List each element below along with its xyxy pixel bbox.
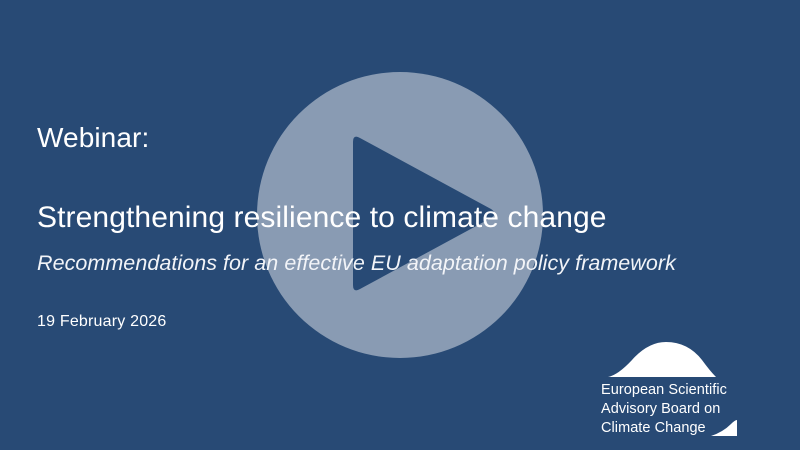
title-text-block: Webinar: Strengthening resilience to cli…	[37, 123, 677, 331]
logo-line-3-row: Climate Change	[601, 419, 753, 438]
quarter-disc-icon	[711, 420, 737, 436]
logo-line-1: European Scientific	[601, 381, 753, 400]
subtitle-label: Recommendations for an effective EU adap…	[37, 251, 677, 276]
logo-line-3: Climate Change	[601, 419, 706, 438]
event-date: 19 February 2026	[37, 312, 677, 331]
page-title: Strengthening resilience to climate chan…	[37, 201, 677, 234]
dome-shape-icon	[608, 339, 716, 377]
organisation-logo: European Scientific Advisory Board on Cl…	[601, 339, 753, 438]
eyebrow-label: Webinar:	[37, 123, 677, 154]
webinar-title-slide: Webinar: Strengthening resilience to cli…	[0, 0, 800, 450]
logo-line-2: Advisory Board on	[601, 400, 753, 419]
